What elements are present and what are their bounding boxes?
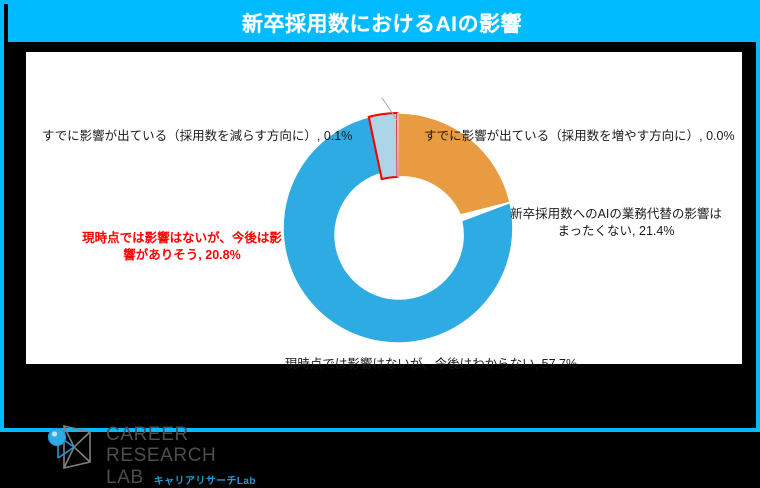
data-label-no-impact-line2: まったくない, 21.4% (481, 223, 751, 240)
data-label-no-impact-line1: 新卒採用数へのAIの業務代替の影響は (481, 206, 751, 223)
header-banner: 新卒採用数におけるAIの影響 (8, 4, 756, 42)
data-label-future-impact-line2: 響がありそう, 20.8% (62, 247, 302, 264)
slide-canvas: 新卒採用数におけるAIの影響 すでに影響が出ている（採用数を減らす方向に）, 0… (0, 0, 760, 432)
data-label-already-decrease: すでに影響が出ている（採用数を減らす方向に）, 0.1% (42, 128, 352, 145)
chart-panel: すでに影響が出ている（採用数を減らす方向に）, 0.1% すでに影響が出ている（… (26, 52, 742, 364)
logo-bottom-row: LAB キャリアリサーチLab (106, 467, 284, 488)
data-label-already-increase: すでに影響が出ている（採用数を増やす方向に）, 0.0% (424, 128, 735, 145)
logo-circle-highlight (52, 431, 57, 436)
logo-text: CAREER RESEARCH LAB キャリアリサーチLab (106, 424, 284, 488)
page-title: 新卒採用数におけるAIの影響 (242, 8, 522, 38)
data-label-no-impact: 新卒採用数へのAIの業務代替の影響は まったくない, 21.4% (481, 206, 751, 240)
logo-line-career-research: CAREER RESEARCH (106, 424, 284, 467)
logo-circle-accent (49, 429, 66, 446)
data-label-unknown: 現時点では影響はないが、今後はわからない, 57.7% (231, 356, 631, 373)
logo-line-lab: LAB (106, 467, 144, 488)
data-label-future-impact: 現時点では影響はないが、今後は影 響がありそう, 20.8% (62, 230, 302, 264)
logo-jp-subtitle: キャリアリサーチLab (154, 472, 256, 488)
career-research-lab-cube-mark (44, 418, 102, 472)
data-label-future-impact-line1: 現時点では影響はないが、今後は影 (62, 230, 302, 247)
donut-slice-already-decrease[interactable] (397, 113, 398, 177)
career-research-lab-logo: CAREER RESEARCH LAB キャリアリサーチLab (44, 416, 284, 474)
